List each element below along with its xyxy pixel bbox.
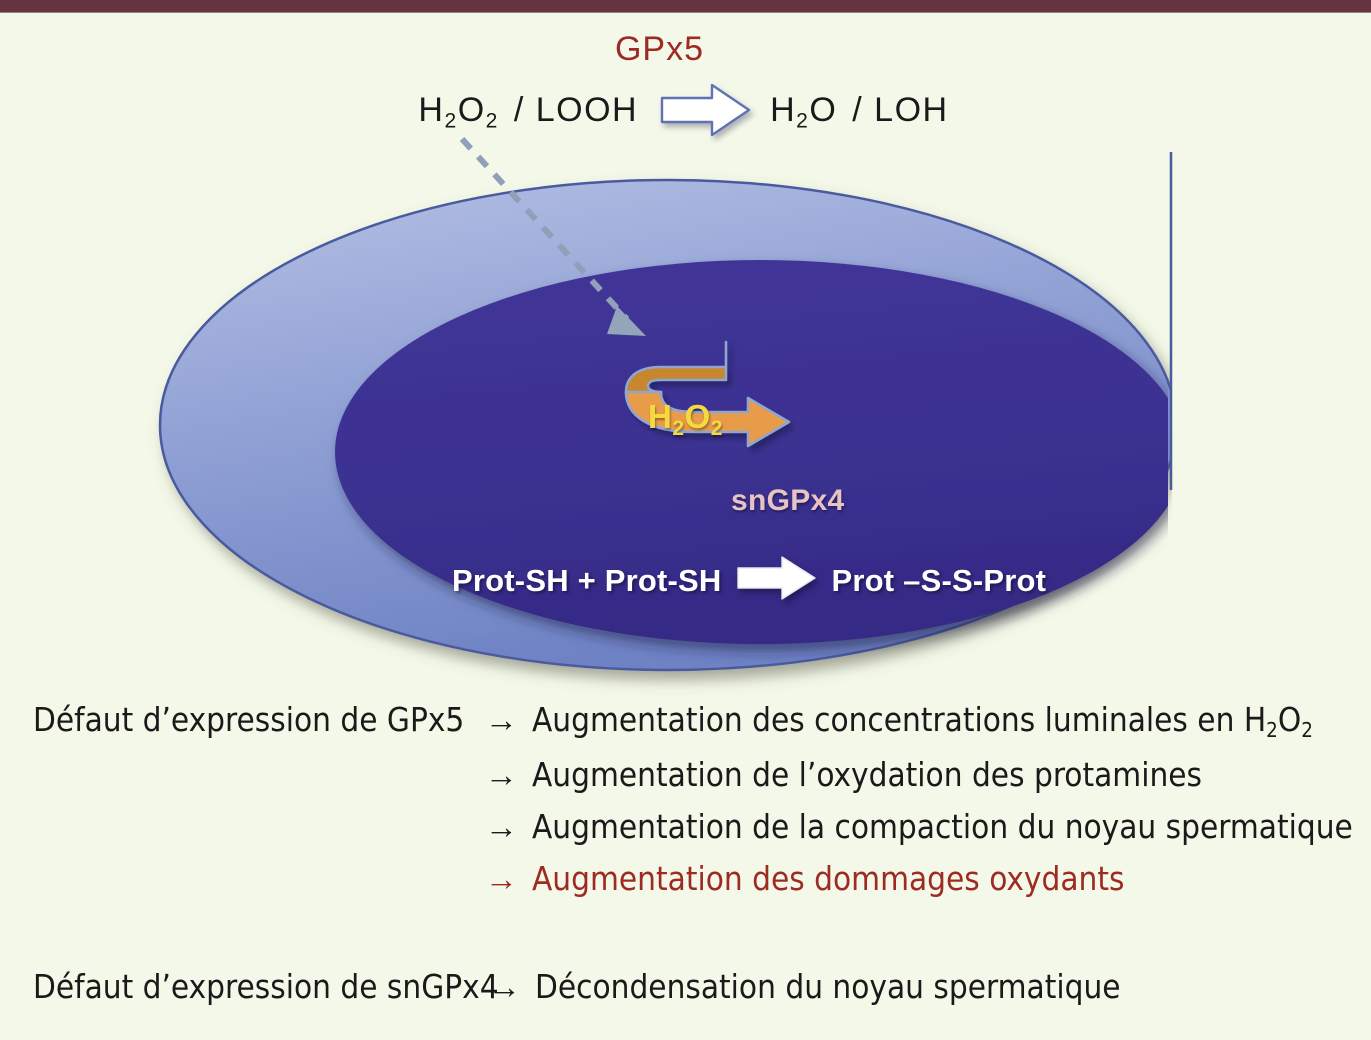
conclusion-text: Augmentation des concentrations luminale… xyxy=(532,700,1313,742)
conclusions-section: Défaut d’expression de GPx5 → Augmentati… xyxy=(33,700,1353,1019)
conclusion-block-gpx5: Défaut d’expression de GPx5 → Augmentati… xyxy=(33,700,1353,898)
nucleus-h2o2-label: H2O2 xyxy=(648,398,723,441)
conclusion-row-highlighted: → Augmentation des dommages oxydants xyxy=(33,859,1353,898)
conclusion-row: Défaut d’expression de GPx5 → Augmentati… xyxy=(33,700,1353,742)
arrow-right-icon: → xyxy=(485,756,518,794)
conclusion-row: → Augmentation de la compaction du noyau… xyxy=(33,807,1353,846)
conclusion-text: Décondensation du noyau spermatique xyxy=(535,967,1121,1006)
conclusion-row: → Augmentation de l’oxydation des protam… xyxy=(33,755,1353,794)
conclusion-text: Augmentation de l’oxydation des protamin… xyxy=(532,755,1202,794)
conclusion-text: Augmentation de la compaction du noyau s… xyxy=(532,807,1353,846)
arrow-right-icon: → xyxy=(485,701,518,739)
sngpx4-enzyme-label: snGPx4 xyxy=(731,484,845,518)
protein-substrate-label: Prot-SH + Prot-SH xyxy=(452,563,722,599)
arrow-right-icon: → xyxy=(485,808,518,846)
conclusion-block-sngpx4: Défaut d’expression de snGPx4 → Déconden… xyxy=(33,967,1353,1006)
gpx5-enzyme-label: GPx5 xyxy=(0,30,1371,69)
conclusion-lead-sngpx4: Défaut d’expression de snGPx4 xyxy=(33,967,488,1006)
conclusion-text: Augmentation des dommages oxydants xyxy=(532,859,1124,898)
protein-product-label: Prot –S-S-Prot xyxy=(832,563,1047,599)
cell-diagram: H2O2 snGPx4 Prot-SH + Prot-SH Prot –S-S-… xyxy=(0,120,1371,700)
conclusion-row: Défaut d’expression de snGPx4 → Déconden… xyxy=(33,967,1353,1006)
arrow-right-icon: → xyxy=(488,968,521,1006)
arrow-right-icon: → xyxy=(485,860,518,898)
block-arrow-right-icon xyxy=(736,554,818,607)
conclusion-lead-gpx5: Défaut d’expression de GPx5 xyxy=(33,700,485,739)
top-accent-bar xyxy=(0,0,1371,13)
gpx5-enzyme-text: GPx5 xyxy=(615,30,704,68)
diagram-page: GPx5 H2O2 / LOOH H2O / LOH xyxy=(0,0,1371,1040)
protein-oxidation-reaction: Prot-SH + Prot-SH Prot –S-S-Prot xyxy=(452,554,1046,607)
